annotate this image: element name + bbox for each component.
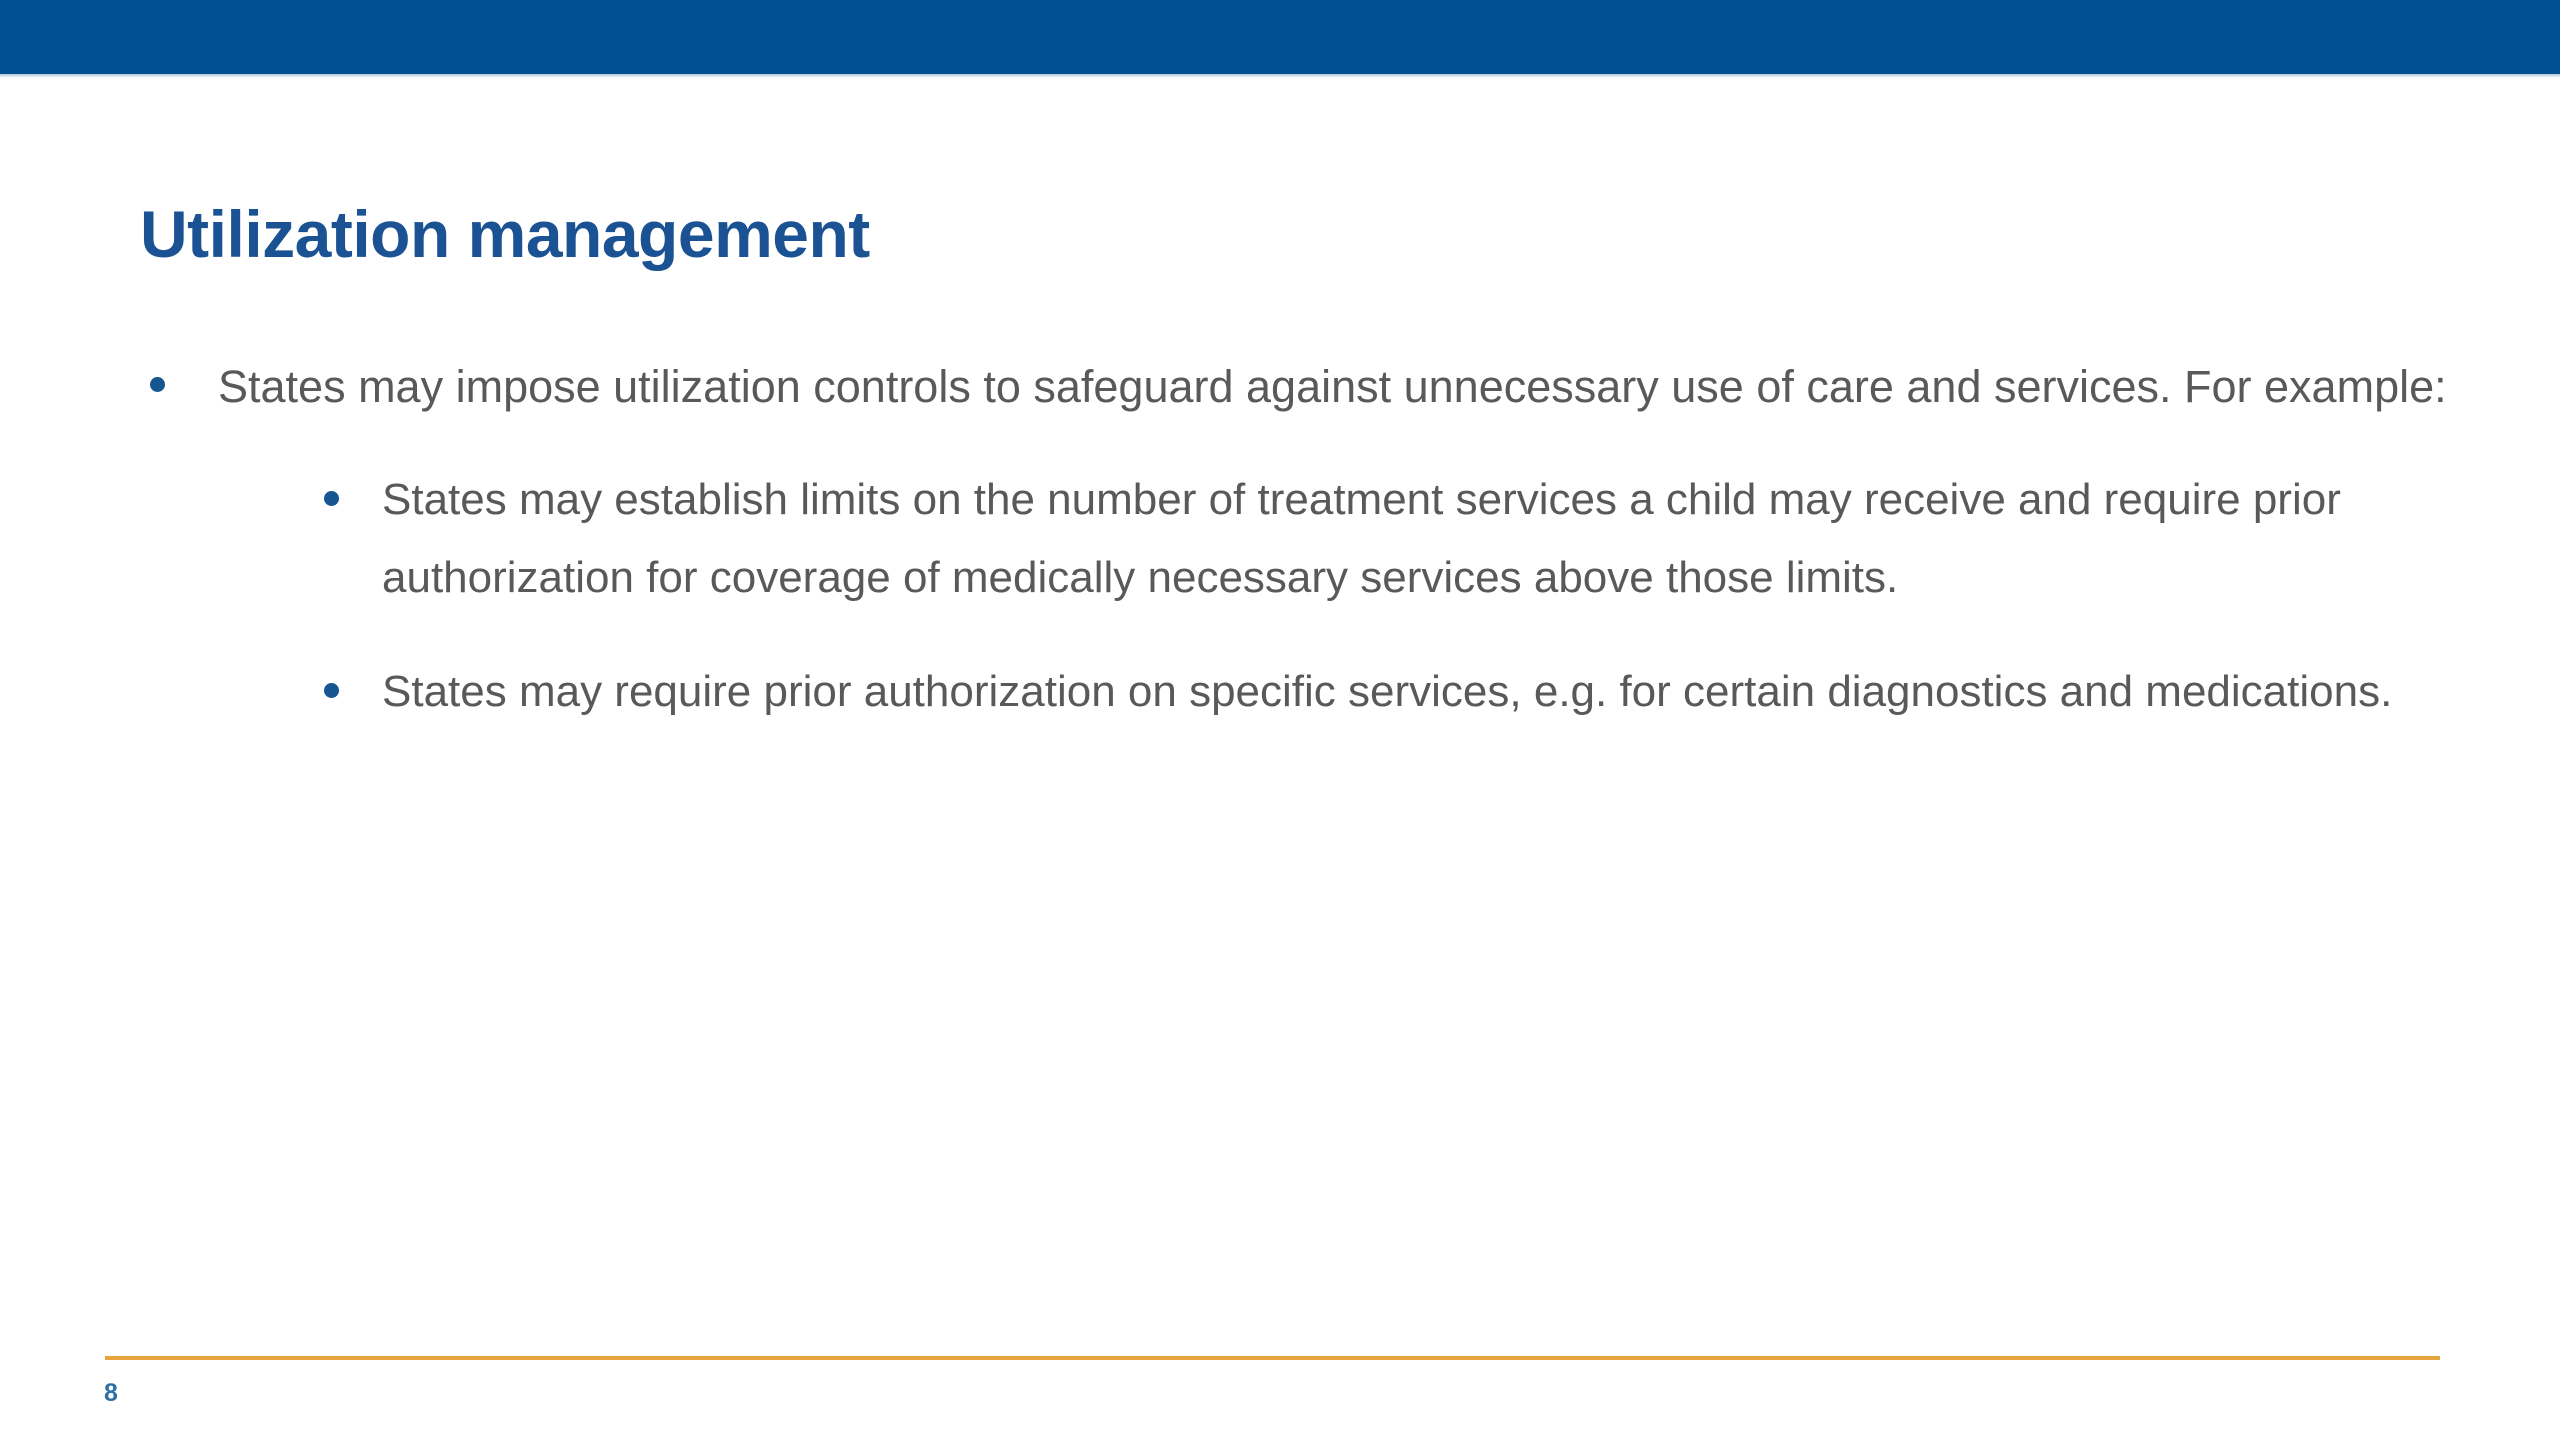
- bullet-level2-text: States may establish limits on the numbe…: [382, 475, 2341, 602]
- header-band: [0, 0, 2560, 74]
- bullet-dot-icon: [324, 491, 339, 506]
- slide: Utilization management States may impose…: [0, 0, 2560, 1440]
- footer-divider: [105, 1356, 2440, 1360]
- bullet-dot-icon: [324, 683, 339, 698]
- page-number: 8: [104, 1378, 118, 1408]
- bullet-dot-icon: [150, 377, 165, 392]
- bullet-level2-text: States may require prior authorization o…: [382, 667, 2392, 716]
- bullet-sublist: States may establish limits on the numbe…: [140, 461, 2440, 731]
- bullet-level1: States may impose utilization controls t…: [140, 348, 2458, 425]
- bullet-level1-text: States may impose utilization controls t…: [218, 361, 2447, 412]
- page-title: Utilization management: [140, 192, 870, 276]
- bullet-level2: States may establish limits on the numbe…: [316, 461, 2412, 617]
- bullet-level2: States may require prior authorization o…: [316, 653, 2412, 731]
- content-body: States may impose utilization controls t…: [140, 348, 2440, 731]
- header-band-shadow: [0, 74, 2560, 78]
